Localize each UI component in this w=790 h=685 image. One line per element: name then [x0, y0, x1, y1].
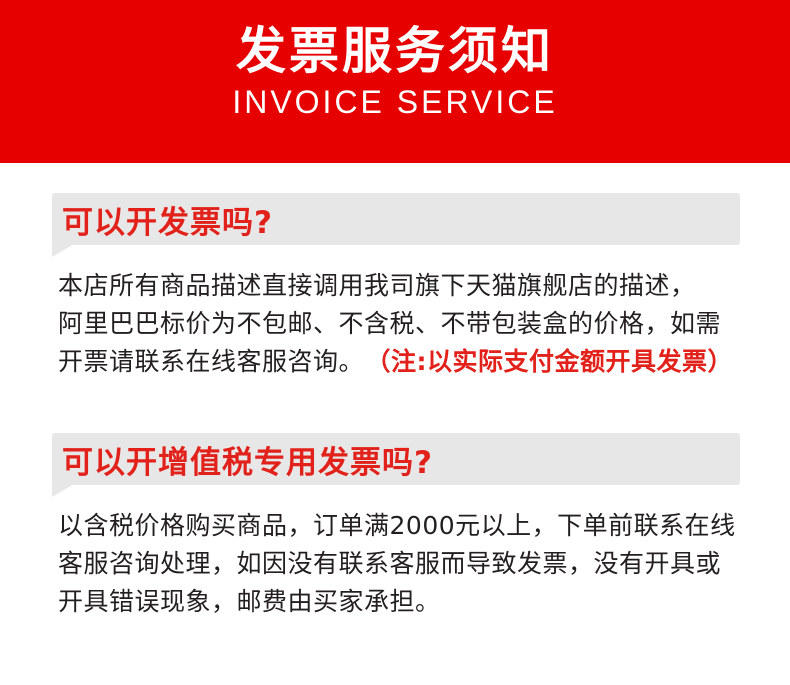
- page-title: 发票服务须知: [236, 24, 554, 79]
- section-heading-text: 可以开发票吗?: [62, 193, 273, 245]
- body-line: 以含税价格购买商品，订单满2000元以上，下单前联系在线: [58, 507, 758, 545]
- body-line-text: 本店所有商品描述直接调用我司旗下天猫旗舰店的描述，: [58, 271, 696, 300]
- body-line: 客服咨询处理，如因没有联系客服而导致发票，没有开具或: [58, 545, 758, 583]
- page-subtitle: INVOICE SERVICE: [232, 85, 557, 120]
- body-line: 阿里巴巴标价为不包邮、不含税、不带包装盒的价格，如需: [58, 305, 758, 343]
- section-heading-bubble: 可以开发票吗?: [52, 193, 740, 251]
- body-line-text: 开票请联系在线客服咨询。: [58, 347, 364, 376]
- body-line-text: 客服咨询处理，如因没有联系客服而导致发票，没有开具或: [58, 549, 721, 578]
- page-header-banner: 发票服务须知 INVOICE SERVICE: [0, 0, 790, 163]
- body-line-text: 开具错误现象，邮费由买家承担。: [58, 587, 441, 616]
- body-line-note: （注:以实际支付金额开具发票）: [378, 347, 733, 376]
- bubble-tail-shape: [52, 244, 74, 257]
- section-body: 以含税价格购买商品，订单满2000元以上，下单前联系在线 客服咨询处理，如因没有…: [58, 507, 758, 621]
- body-line: 开票请联系在线客服咨询。（注:以实际支付金额开具发票）: [58, 343, 758, 381]
- body-line-text: 阿里巴巴标价为不包邮、不含税、不带包装盒的价格，如需: [58, 309, 721, 338]
- faq-section-1: 可以开发票吗? 本店所有商品描述直接调用我司旗下天猫旗舰店的描述， 阿里巴巴标价…: [0, 193, 790, 381]
- faq-section-2: 可以开增值税专用发票吗? 以含税价格购买商品，订单满2000元以上，下单前联系在…: [0, 433, 790, 621]
- body-line-text: 以含税价格购买商品，订单满2000元以上，下单前联系在线: [58, 511, 736, 540]
- body-line: 本店所有商品描述直接调用我司旗下天猫旗舰店的描述，: [58, 267, 758, 305]
- section-heading-bubble: 可以开增值税专用发票吗?: [52, 433, 740, 491]
- section-heading-text: 可以开增值税专用发票吗?: [62, 433, 433, 485]
- section-body: 本店所有商品描述直接调用我司旗下天猫旗舰店的描述， 阿里巴巴标价为不包邮、不含税…: [58, 267, 758, 381]
- body-line: 开具错误现象，邮费由买家承担。: [58, 583, 758, 621]
- bubble-tail-shape: [52, 484, 74, 497]
